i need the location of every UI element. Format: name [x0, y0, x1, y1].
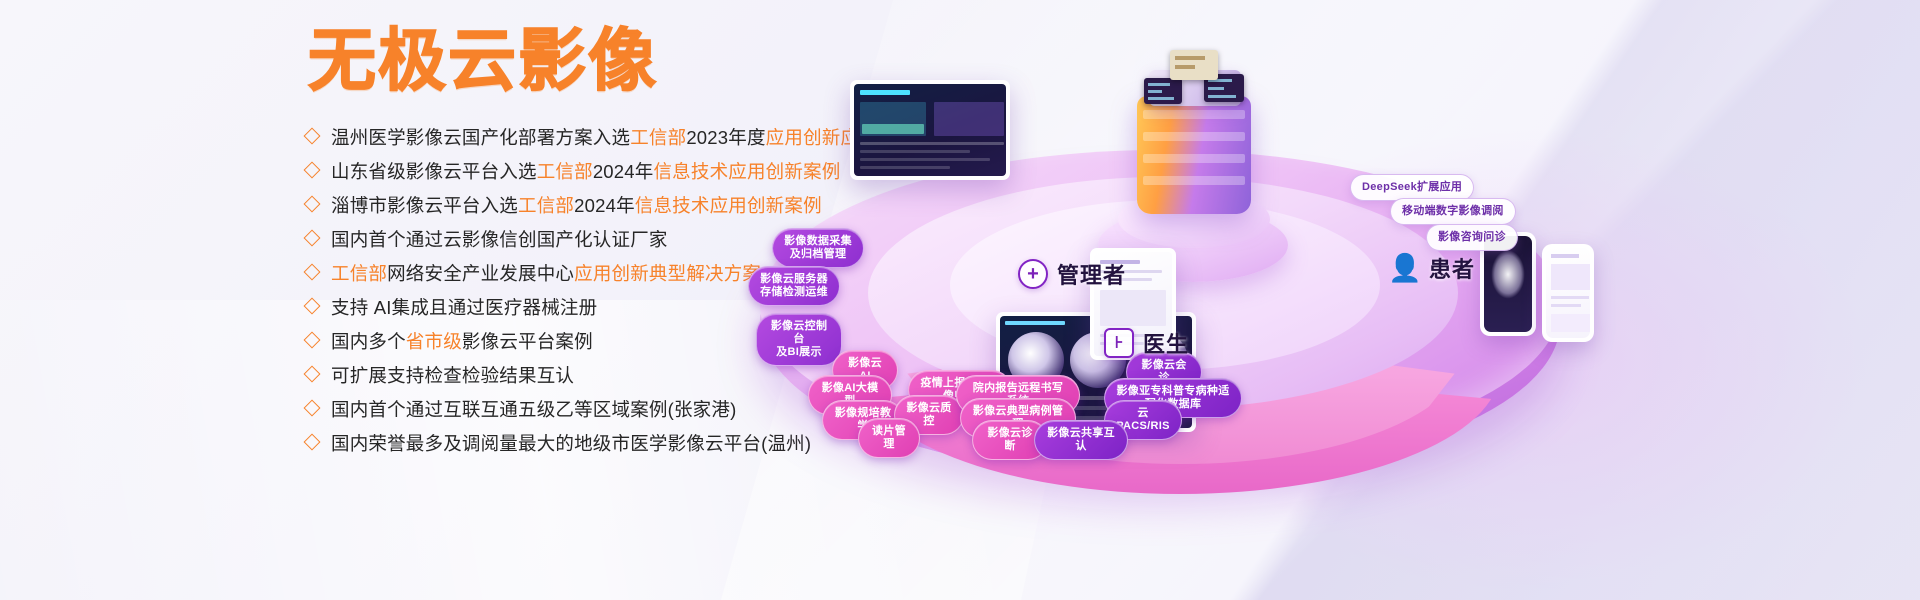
bullet-segment: 网络安全产业发展中心: [387, 263, 574, 284]
tower-body: [1137, 96, 1251, 214]
diamond-icon: [304, 162, 321, 179]
capability-tag[interactable]: 影像云控制台 及BI展示: [756, 313, 842, 366]
diamond-icon: [304, 128, 321, 145]
consult-phone-device[interactable]: [1542, 244, 1594, 342]
person-icon: 👤: [1390, 253, 1420, 283]
bullet-segment: 工信部: [331, 263, 387, 284]
capability-tag[interactable]: 影像数据采集 及归档管理: [772, 228, 864, 268]
bullet-text: 国内多个省市级影像云平台案例: [331, 328, 593, 354]
bullet-text: 国内首个通过云影像信创国产化认证厂家: [331, 226, 668, 252]
role-doctor[interactable]: ⊦ 医生: [1104, 327, 1189, 359]
bullet-segment: 支持 AI集成且通过医疗器械注册: [331, 297, 597, 318]
bullet-segment: 淄博市影像云平台入选: [331, 195, 518, 216]
bullet-segment: 可扩展支持检查检验结果互认: [331, 365, 574, 386]
dashboard-monitor-device[interactable]: [850, 80, 1010, 180]
diamond-icon: [304, 366, 321, 383]
capability-tag[interactable]: 影像云服务器 存储检测运维: [748, 266, 840, 306]
tower-screen-top: [1170, 50, 1218, 80]
plus-circle-icon: +: [1018, 259, 1048, 289]
diamond-icon: [304, 196, 321, 213]
diamond-icon: [304, 400, 321, 417]
bullet-segment: 国内首个通过互联互通五级乙等区域案例(张家港): [331, 399, 736, 420]
role-doctor-label: 医生: [1143, 327, 1189, 359]
role-admin-label: 管理者: [1057, 258, 1126, 290]
role-admin[interactable]: + 管理者: [1018, 258, 1126, 290]
bullet-segment: 国内多个: [331, 331, 406, 352]
bullet-text: 可扩展支持检查检验结果互认: [331, 362, 574, 388]
bullet-text: 国内首个通过互联互通五级乙等区域案例(张家港): [331, 396, 736, 422]
bullet-segment: 2024年: [593, 161, 654, 182]
bullet-segment: 影像云平台案例: [462, 331, 593, 352]
diamond-icon: [304, 230, 321, 247]
capability-tag[interactable]: DeepSeek扩展应用: [1350, 174, 1474, 201]
diamond-icon: [304, 264, 321, 281]
diamond-icon: [304, 298, 321, 315]
bullet-segment: 国内首个通过云影像信创国产化认证厂家: [331, 229, 668, 250]
tower-screen-left: [1144, 78, 1182, 104]
bullet-segment: 2024年: [574, 195, 635, 216]
capability-tag[interactable]: 影像云共享互认: [1034, 420, 1128, 460]
capability-tag[interactable]: 读片管理: [858, 418, 920, 458]
bullet-segment: 工信部: [537, 161, 593, 182]
doctor-badge-icon: ⊦: [1104, 328, 1134, 358]
capability-tag[interactable]: 移动端数字影像调阅: [1390, 198, 1516, 225]
bullet-segment: 工信部: [630, 127, 686, 148]
platform-illustration: + 管理者 ⊦ 医生 👤 患者 影像数据采集 及归档管理影像云服务器 存储检测运…: [700, 0, 1920, 600]
bullet-segment: 山东省级影像云平台入选: [331, 161, 537, 182]
diamond-icon: [304, 332, 321, 349]
diamond-icon: [304, 434, 321, 451]
bullet-segment: 工信部: [518, 195, 574, 216]
role-patient-label: 患者: [1429, 252, 1475, 284]
banner-container: 无极云影像 温州医学影像云国产化部署方案入选工信部2023年度应用创新应用示范案…: [0, 0, 1920, 600]
bullet-text: 支持 AI集成且通过医疗器械注册: [331, 294, 597, 320]
bullet-segment: 省市级: [406, 331, 462, 352]
capability-tag[interactable]: 影像咨询问诊: [1426, 224, 1518, 251]
bullet-segment: 温州医学影像云国产化部署方案入选: [331, 127, 630, 148]
role-patient[interactable]: 👤 患者: [1390, 252, 1475, 284]
bullet-text: 工信部网络安全产业发展中心应用创新典型解决方案: [331, 260, 761, 286]
